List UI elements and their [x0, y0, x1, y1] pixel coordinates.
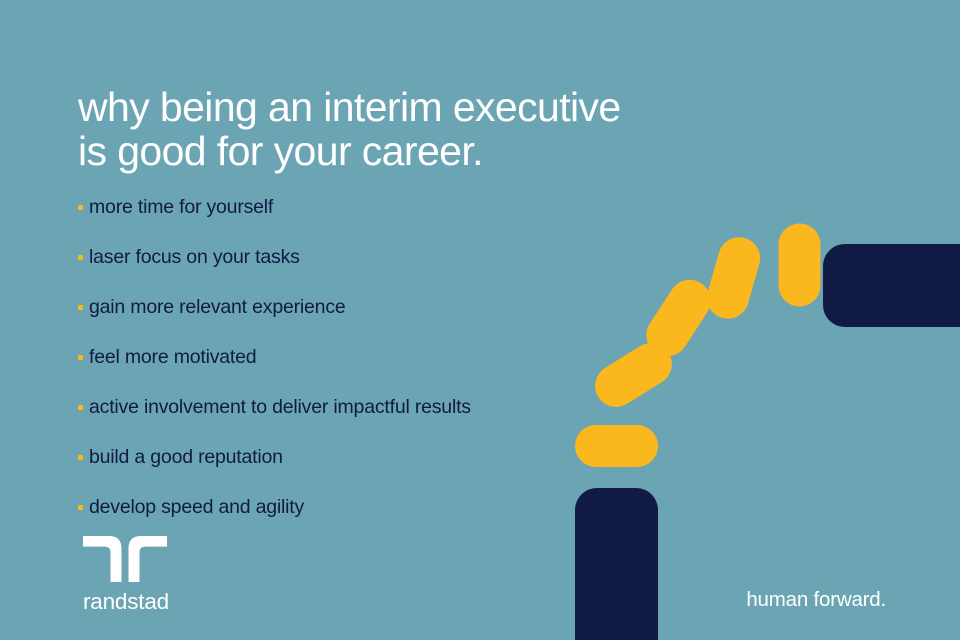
list-item-label: develop speed and agility — [89, 496, 304, 519]
bullet-dot-icon — [78, 355, 83, 360]
orange-capsule — [587, 335, 680, 415]
page-title: why being an interim executive is good f… — [78, 85, 698, 173]
bullet-dot-icon — [78, 505, 83, 510]
brand-tagline: human forward. — [746, 588, 886, 612]
list-item: develop speed and agility — [78, 482, 471, 532]
list-item: feel more motivated — [78, 332, 471, 382]
randstad-tuning-fork-icon — [83, 536, 167, 582]
bullet-dot-icon — [78, 455, 83, 460]
list-item: gain more relevant experience — [78, 282, 471, 332]
list-item: laser focus on your tasks — [78, 232, 471, 282]
orange-capsule — [702, 232, 765, 323]
orange-capsule — [779, 224, 821, 307]
list-item: more time for yourself — [78, 182, 471, 232]
list-item-label: feel more motivated — [89, 346, 256, 369]
list-item-label: gain more relevant experience — [89, 296, 346, 319]
orange-capsule — [575, 425, 658, 467]
list-item-label: build a good reputation — [89, 446, 283, 469]
navy-block-bottom — [575, 488, 658, 640]
bullet-dot-icon — [78, 255, 83, 260]
poster-canvas: why being an interim executive is good f… — [0, 0, 960, 640]
brand-logo: randstad — [83, 536, 169, 614]
bullet-dot-icon — [78, 405, 83, 410]
list-item-label: active involvement to deliver impactful … — [89, 396, 471, 419]
bullet-dot-icon — [78, 305, 83, 310]
headline-line-1: why being an interim executive — [78, 85, 698, 129]
orange-capsule — [638, 272, 718, 364]
brand-wordmark: randstad — [83, 590, 169, 614]
headline-line-2: is good for your career. — [78, 129, 698, 173]
navy-block-right — [823, 244, 960, 327]
benefits-list: more time for yourself laser focus on yo… — [78, 182, 471, 532]
list-item: build a good reputation — [78, 432, 471, 482]
list-item: active involvement to deliver impactful … — [78, 382, 471, 432]
list-item-label: more time for yourself — [89, 196, 273, 219]
bullet-dot-icon — [78, 205, 83, 210]
list-item-label: laser focus on your tasks — [89, 246, 300, 269]
